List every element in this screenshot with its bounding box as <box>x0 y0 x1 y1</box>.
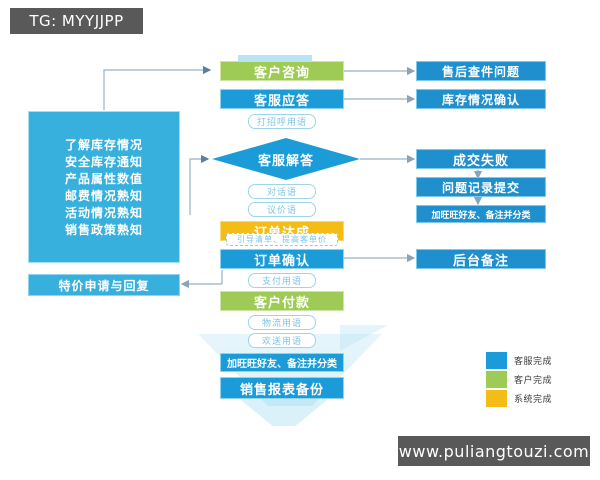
legend-item: 系统完成 <box>486 390 552 407</box>
chip-payment-phrases[interactable]: 支付用语 <box>248 273 316 288</box>
site-watermark: www.puliangtouzi.com <box>398 436 590 466</box>
legend-swatch-system <box>486 390 507 407</box>
flowchart-canvas: 了解库存情况 安全库存通知 产品属性数值 邮费情况熟知 活动情况熟知 销售政策熟… <box>0 0 600 480</box>
chip-bargain-phrases[interactable]: 议价语 <box>248 202 316 217</box>
chip-farewell-phrases[interactable]: 欢送用语 <box>248 333 316 348</box>
node-service-reply[interactable]: 客服应答 <box>220 89 344 109</box>
knowledge-line: 销售政策熟知 <box>65 222 143 238</box>
legend-label: 客户完成 <box>514 373 552 386</box>
diamond-label: 客服解答 <box>212 138 360 180</box>
legend-item: 客服完成 <box>486 352 552 369</box>
legend-label: 客服完成 <box>514 354 552 367</box>
chip-upsell-note[interactable]: 引导清单、提高客单价 <box>226 233 338 246</box>
node-deal-failed[interactable]: 成交失败 <box>416 149 546 169</box>
tg-watermark: TG: MYYJJPP <box>10 8 143 34</box>
chip-greeting-phrases[interactable]: 打招呼用语 <box>248 114 316 129</box>
node-add-friend-tag-right[interactable]: 加旺旺好友、备注并分类 <box>416 205 546 223</box>
chip-dialogue-phrases[interactable]: 对话语 <box>248 184 316 199</box>
node-sales-report-backup[interactable]: 销售报表备份 <box>220 377 344 399</box>
node-aftersale-tracking[interactable]: 售后查件问题 <box>416 61 546 81</box>
chip-logistics-phrases[interactable]: 物流用语 <box>248 315 316 330</box>
legend-swatch-customer <box>486 371 507 388</box>
legend: 客服完成 客户完成 系统完成 <box>486 352 590 408</box>
legend-label: 系统完成 <box>514 392 552 405</box>
node-order-confirm[interactable]: 订单确认 <box>220 249 344 269</box>
node-customer-payment[interactable]: 客户付款 <box>220 291 344 311</box>
node-backend-note[interactable]: 后台备注 <box>416 249 546 269</box>
knowledge-line: 了解库存情况 <box>65 137 143 153</box>
knowledge-line: 产品属性数值 <box>65 171 143 187</box>
node-issue-record-submit[interactable]: 问题记录提交 <box>416 177 546 197</box>
knowledge-line: 安全库存通知 <box>65 154 143 170</box>
node-stock-confirm[interactable]: 库存情况确认 <box>416 89 546 109</box>
knowledge-line: 活动情况熟知 <box>65 205 143 221</box>
legend-item: 客户完成 <box>486 371 552 388</box>
node-customer-inquiry[interactable]: 客户咨询 <box>220 61 344 81</box>
legend-swatch-service <box>486 352 507 369</box>
node-service-answer[interactable]: 客服解答 <box>212 138 360 180</box>
node-add-friend-tag[interactable]: 加旺旺好友、备注并分类 <box>220 353 344 372</box>
node-special-price-request[interactable]: 特价申请与回复 <box>28 274 180 296</box>
knowledge-line: 邮费情况熟知 <box>65 188 143 204</box>
knowledge-panel: 了解库存情况 安全库存通知 产品属性数值 邮费情况熟知 活动情况熟知 销售政策熟… <box>28 111 180 263</box>
